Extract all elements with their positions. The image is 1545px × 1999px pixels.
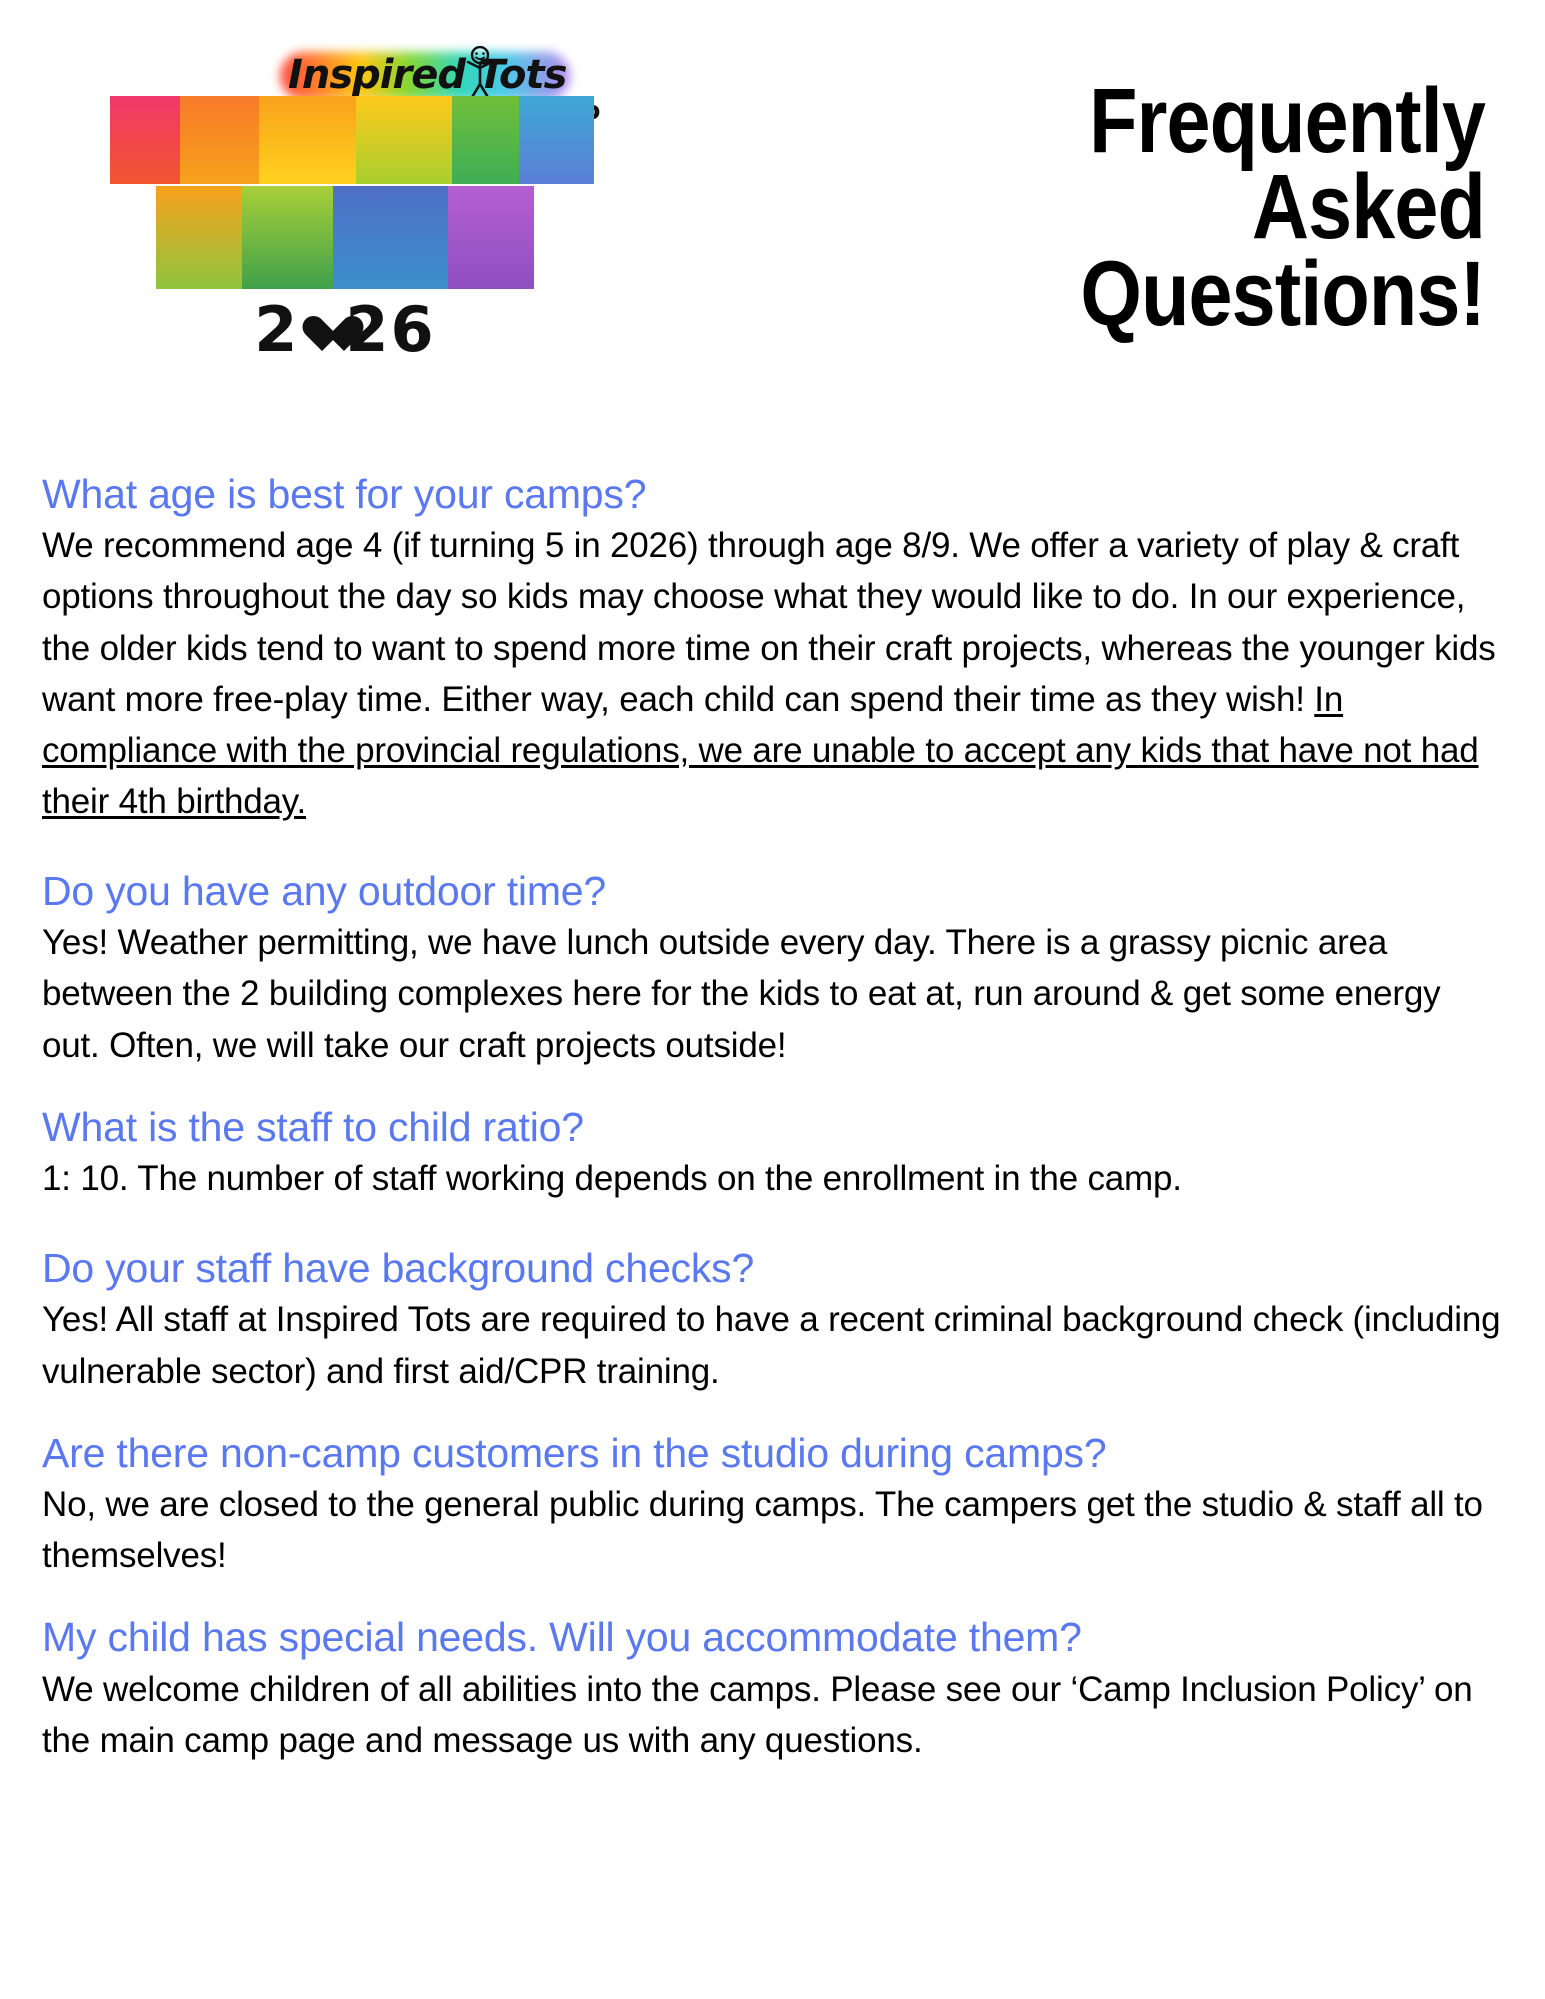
faq-answer-text: We recommend age 4 (if turning 5 in 2026…	[42, 526, 1496, 718]
page-header: Inspired Tots Children's Studio SUMMER C…	[0, 0, 1545, 470]
spacer	[42, 833, 1505, 867]
title-line-2: Asked	[741, 164, 1485, 250]
faq-question: What is the staff to child ratio?	[42, 1103, 1505, 1151]
summer-camp-logo: Inspired Tots Children's Studio SUMMER C…	[0, 0, 620, 470]
faq-list: What age is best for your camps? We reco…	[0, 470, 1545, 1766]
faq-answer: Yes! All staff at Inspired Tots are requ…	[42, 1294, 1505, 1396]
year-prefix: 2	[254, 293, 299, 366]
faq-question: My child has special needs. Will you acc…	[42, 1613, 1505, 1661]
faq-question: What age is best for your camps?	[42, 470, 1505, 518]
title-line-3: Questions!	[741, 251, 1485, 337]
faq-question: Are there non-camp customers in the stud…	[42, 1429, 1505, 1477]
faq-item: My child has special needs. Will you acc…	[42, 1613, 1505, 1766]
faq-item: What age is best for your camps? We reco…	[42, 470, 1505, 827]
page-title: Frequently Asked Questions!	[620, 0, 1545, 337]
spacer	[42, 1587, 1505, 1613]
faq-answer: We recommend age 4 (if turning 5 in 2026…	[42, 520, 1505, 827]
wordmark: SUMMER CAMP 226	[110, 96, 580, 361]
faq-answer: 1: 10. The number of staff working depen…	[42, 1153, 1505, 1204]
faq-question: Do your staff have background checks?	[42, 1244, 1505, 1292]
heart-icon	[300, 315, 344, 355]
spacer	[42, 1403, 1505, 1429]
spacer	[42, 1077, 1505, 1103]
faq-question: Do you have any outdoor time?	[42, 867, 1505, 915]
wordmark-year: 226	[110, 299, 580, 361]
faq-item: Do your staff have background checks? Ye…	[42, 1244, 1505, 1397]
faq-answer: We welcome children of all abilities int…	[42, 1664, 1505, 1766]
faq-item: Are there non-camp customers in the stud…	[42, 1429, 1505, 1582]
faq-answer: No, we are closed to the general public …	[42, 1479, 1505, 1581]
spacer	[42, 1210, 1505, 1244]
faq-answer: Yes! Weather permitting, we have lunch o…	[42, 917, 1505, 1070]
faq-item: What is the staff to child ratio? 1: 10.…	[42, 1103, 1505, 1204]
title-line-1: Frequently	[741, 78, 1485, 164]
wordmark-camp: CAMP	[110, 186, 580, 289]
faq-item: Do you have any outdoor time? Yes! Weath…	[42, 867, 1505, 1071]
wordmark-summer: SUMMER	[110, 96, 580, 184]
